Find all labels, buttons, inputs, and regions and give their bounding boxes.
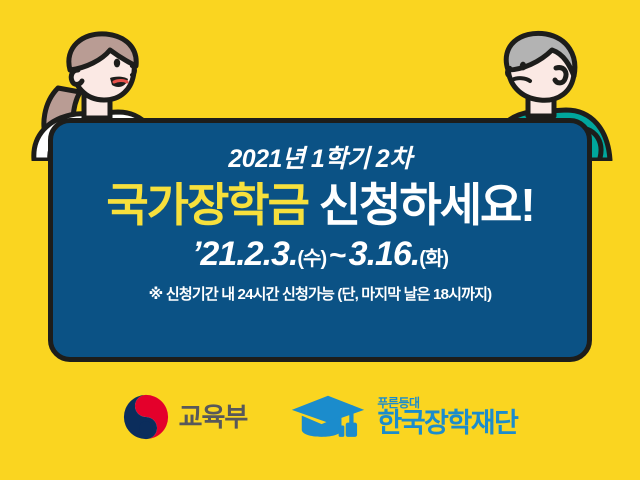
headline-rest: 신청하세요! bbox=[319, 179, 534, 231]
logo-kosaf: 푸른등대 한국장학재단 bbox=[289, 394, 517, 440]
logo-row: 교육부 푸른등대 한국장학재단 bbox=[0, 386, 640, 448]
date-separator: ~ bbox=[326, 239, 349, 272]
logo-ministry-of-education: 교육부 bbox=[123, 394, 248, 440]
date-end: 3.16. bbox=[349, 235, 420, 273]
scholarship-announcement-banner: 2021년 1학기 2차 국가장학금 신청하세요! ’21.2.3.(수)~3.… bbox=[0, 0, 640, 480]
date-end-dayofweek: (화) bbox=[419, 248, 448, 270]
logo-kosaf-text: 푸른등대 한국장학재단 bbox=[377, 397, 517, 437]
page-title: 국가장학금 신청하세요! bbox=[106, 182, 533, 228]
date-start-dayofweek: (수) bbox=[297, 248, 326, 270]
announcement-board: 2021년 1학기 2차 국가장학금 신청하세요! ’21.2.3.(수)~3.… bbox=[48, 118, 592, 362]
graduation-cap-icon bbox=[289, 394, 367, 440]
logo-kosaf-label: 한국장학재단 bbox=[377, 410, 517, 437]
taegeuk-icon bbox=[123, 394, 169, 440]
eyebrow-text: 2021년 1학기 2차 bbox=[228, 147, 411, 172]
headline-highlight: 국가장학금 bbox=[106, 179, 308, 231]
application-note: ※ 신청기간 내 24시간 신청가능 (단, 마지막 날은 18시까지) bbox=[149, 287, 492, 302]
date-start: ’21.2.3. bbox=[192, 235, 297, 273]
logo-ministry-of-education-label: 교육부 bbox=[179, 404, 248, 430]
application-period: ’21.2.3.(수)~3.16.(화) bbox=[192, 237, 448, 271]
